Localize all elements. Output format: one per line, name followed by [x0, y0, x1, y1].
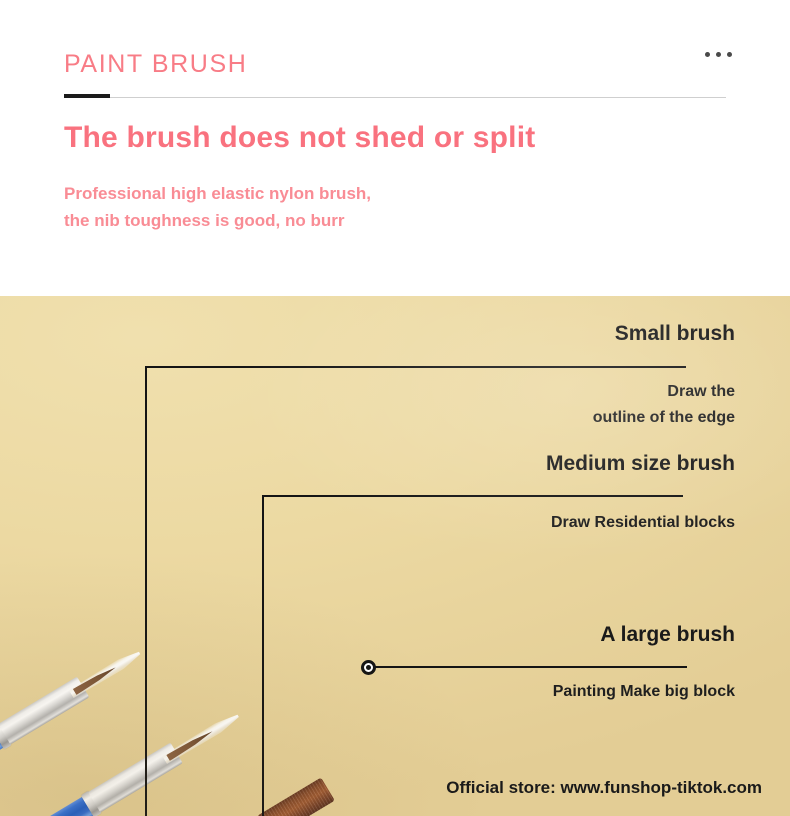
- kebab-dot-1: [705, 52, 710, 57]
- brush-large-bristles: [258, 777, 335, 816]
- official-store-note: Official store: www.funshop-tiktok.com: [446, 778, 762, 798]
- page-title: The brush does not shed or split: [64, 121, 535, 155]
- callout-desc-medium-brush: Draw Residential blocks: [551, 510, 735, 536]
- kebab-dot-3: [727, 52, 732, 57]
- callout-desc-small-brush-line-2: outline of the edge: [593, 405, 735, 431]
- header-divider: [64, 97, 726, 98]
- leader-line-medium-vertical: [262, 495, 264, 816]
- callout-title-small-brush: Small brush: [615, 322, 735, 346]
- callout-desc-large-brush-line-1: Painting Make big block: [553, 679, 735, 705]
- product-photo: Small brush Draw the outline of the edge…: [0, 296, 790, 816]
- callout-title-large-brush: A large brush: [600, 623, 735, 647]
- header-section: PAINT BRUSH The brush does not shed or s…: [0, 0, 790, 296]
- page-eyebrow-title: PAINT BRUSH: [64, 50, 247, 79]
- callout-desc-large-brush: Painting Make big block: [553, 679, 735, 705]
- callout-title-medium-brush: Medium size brush: [546, 452, 735, 476]
- marker-dot-large-brush: [361, 660, 376, 675]
- kebab-dot-2: [716, 52, 721, 57]
- callout-desc-small-brush: Draw the outline of the edge: [593, 379, 735, 431]
- callout-desc-small-brush-line-1: Draw the: [593, 379, 735, 405]
- leader-line-large-horizontal: [367, 666, 687, 668]
- product-infographic-page: PAINT BRUSH The brush does not shed or s…: [0, 0, 790, 816]
- page-subtitle-line-1: Professional high elastic nylon brush,: [64, 180, 371, 207]
- kebab-menu-icon[interactable]: [705, 52, 732, 57]
- page-subtitle-line-2: the nib toughness is good, no burr: [64, 207, 371, 234]
- page-subtitle: Professional high elastic nylon brush, t…: [64, 180, 371, 234]
- leader-line-small-vertical: [145, 366, 147, 816]
- leader-line-medium-horizontal: [262, 495, 683, 497]
- leader-line-small-horizontal: [145, 366, 686, 368]
- callout-desc-medium-brush-line-1: Draw Residential blocks: [551, 510, 735, 536]
- header-divider-accent: [64, 94, 110, 98]
